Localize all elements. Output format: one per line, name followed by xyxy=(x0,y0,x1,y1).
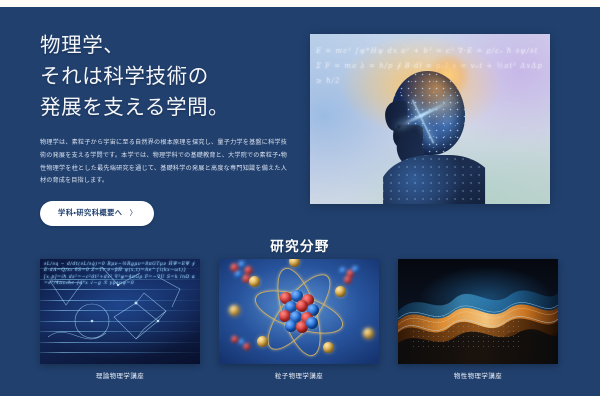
central-atom xyxy=(251,264,347,360)
research-fields-card-list: ∂L/∂q − d/dt(∂L/∂q̇)=0 Rμν−½Rgμν=8πGTμν … xyxy=(40,259,560,380)
blackboard-equations-image: ∂L/∂q − d/dt(∂L/∂q̇)=0 Rμν−½Rgμν=8πGTμν … xyxy=(40,259,200,364)
hero-image: E = mc² ∫ψ*Hψ dx a² + b² = c² ∇·E = ρ/ε₀… xyxy=(310,34,550,204)
research-card-particle-physics[interactable]: 粒子物理学講座 xyxy=(219,259,379,380)
silhouette-shoulders xyxy=(383,155,485,204)
blackboard-diagram-lines xyxy=(40,259,200,364)
wave-particle-speckles xyxy=(411,314,523,350)
chevron-right-icon: 〉 xyxy=(129,207,137,218)
thinking-person-silhouette xyxy=(383,71,485,204)
top-edge-strip xyxy=(0,0,600,7)
research-card-label: 物性物理学講座 xyxy=(398,371,558,380)
department-overview-button[interactable]: 学科・研究科概要へ 〉 xyxy=(40,201,154,226)
section-title-research-fields: 研究分野 xyxy=(0,235,600,255)
hero-section: 物理学、 それは科学技術の 発展を支える学問。 物理学は、素粒子から宇宙に至る自… xyxy=(0,7,600,219)
atomic-model-image xyxy=(219,259,379,364)
hero-copy-block: 物理学、 それは科学技術の 発展を支える学問。 物理学は、素粒子から宇宙に至る自… xyxy=(40,30,290,226)
page-title: 物理学、 それは科学技術の 発展を支える学問。 xyxy=(40,30,290,123)
glowing-wave-field-image xyxy=(398,259,558,364)
research-card-theoretical-physics[interactable]: ∂L/∂q − d/dt(∂L/∂q̇)=0 Rμν−½Rgμν=8πGTμν … xyxy=(40,259,200,380)
research-card-label: 理論物理学講座 xyxy=(40,371,200,380)
atom-nucleus xyxy=(276,290,322,334)
page-root: 物理学、 それは科学技術の 発展を支える学問。 物理学は、素粒子から宇宙に至る自… xyxy=(0,0,600,400)
research-card-condensed-matter-physics[interactable]: 物性物理学講座 xyxy=(398,259,558,380)
research-card-label: 粒子物理学講座 xyxy=(219,371,379,380)
page-canvas: 物理学、 それは科学技術の 発展を支える学問。 物理学は、素粒子から宇宙に至る自… xyxy=(0,7,600,396)
hero-description: 物理学は、素粒子から宇宙に至る自然界の根本原理を探究し、量子力学を基盤に科学技術… xyxy=(40,137,287,187)
cta-label: 学科・研究科概要へ xyxy=(58,208,122,218)
bottom-edge-strip xyxy=(0,396,600,400)
